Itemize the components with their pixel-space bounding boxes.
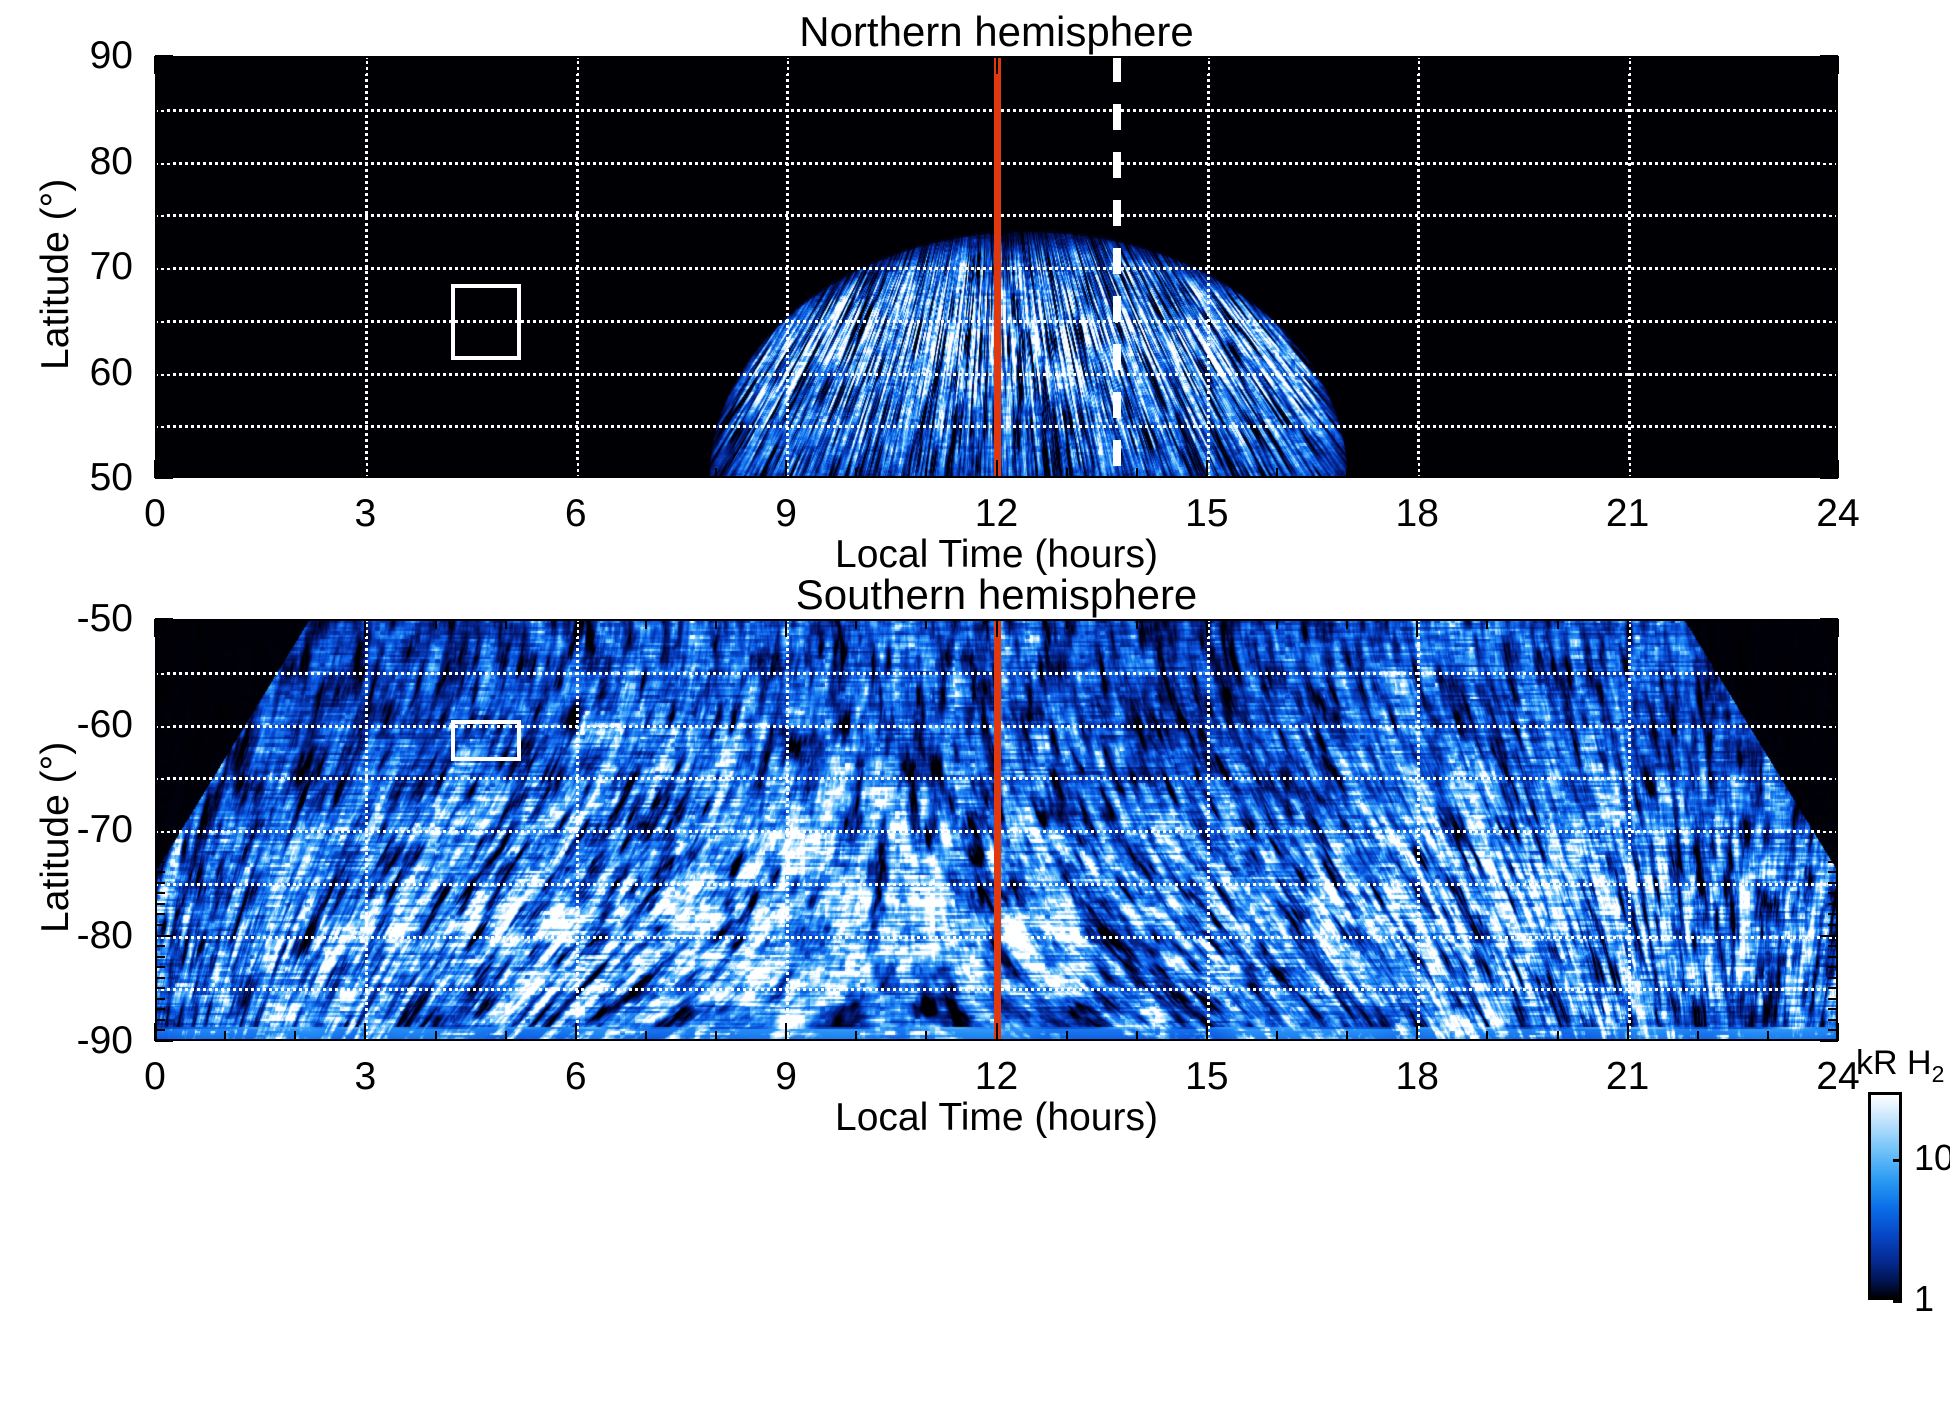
y-tick-minor-right (1828, 456, 1838, 458)
x-tick-minor-top (1276, 619, 1278, 629)
y-tick-minor-right (1828, 776, 1838, 778)
x-tick-minor (505, 1031, 507, 1041)
y-tick-minor (155, 966, 165, 968)
y-tick-major (155, 829, 173, 831)
x-tick-minor-top (1557, 619, 1559, 629)
y-tick-minor (155, 977, 165, 979)
x-tick-major-top (1627, 619, 1629, 637)
x-tick-label: 3 (275, 1057, 455, 1096)
y-tick-major-right (1820, 161, 1838, 163)
figure-root: Northern hemisphere 03691215182124 90807… (0, 0, 1950, 1423)
y-tick-minor-right (1828, 892, 1838, 894)
y-tick-minor (155, 76, 165, 78)
x-tick-major (1837, 460, 1839, 478)
x-tick-label: 6 (486, 1057, 666, 1096)
y-tick-minor (155, 882, 165, 884)
y-tick-minor-right (1828, 192, 1838, 194)
x-tick-label: 0 (65, 1057, 245, 1096)
y-tick-minor (155, 956, 165, 958)
x-tick-minor-top (224, 56, 226, 66)
x-tick-minor-top (435, 56, 437, 66)
x-tick-label: 6 (486, 494, 666, 533)
x-tick-minor (855, 468, 857, 478)
y-tick-minor-right (1828, 977, 1838, 979)
y-tick-minor-right (1828, 329, 1838, 331)
y-tick-minor-right (1828, 66, 1838, 68)
y-tick-minor-right (1828, 840, 1838, 842)
y-tick-minor (155, 129, 165, 131)
y-tick-minor-right (1828, 403, 1838, 405)
y-tick-minor-right (1828, 203, 1838, 205)
plot-area-north (155, 56, 1838, 478)
y-tick-major-right (1820, 477, 1838, 479)
x-tick-minor-top (1136, 619, 1138, 629)
y-tick-minor-right (1828, 871, 1838, 873)
y-tick-major-right (1820, 55, 1838, 57)
colorbar-gradient (1868, 1092, 1902, 1300)
x-tick-major-top (996, 56, 998, 74)
y-tick-minor (155, 403, 165, 405)
y-tick-minor (155, 861, 165, 863)
x-tick-major-top (785, 56, 787, 74)
x-tick-minor (505, 468, 507, 478)
panel-title-north: Northern hemisphere (155, 8, 1838, 56)
y-tick-minor (155, 350, 165, 352)
y-tick-minor-right (1828, 445, 1838, 447)
x-tick-major (1837, 1023, 1839, 1041)
y-tick-minor-right (1828, 1029, 1838, 1031)
y-tick-label: 80 (0, 142, 133, 181)
x-tick-minor-top (925, 619, 927, 629)
y-tick-major (155, 618, 173, 620)
y-tick-minor (155, 224, 165, 226)
x-tick-minor (715, 1031, 717, 1041)
x-tick-minor (294, 468, 296, 478)
x-axis-title-south: Local Time (hours) (155, 1096, 1838, 1140)
y-tick-minor (155, 808, 165, 810)
y-tick-major-right (1820, 372, 1838, 374)
x-tick-minor (855, 1031, 857, 1041)
y-tick-minor (155, 182, 165, 184)
x-tick-minor (435, 468, 437, 478)
x-tick-minor (224, 468, 226, 478)
y-tick-label: -90 (0, 1021, 133, 1060)
y-tick-minor-right (1828, 818, 1838, 820)
x-tick-minor (1136, 468, 1138, 478)
y-tick-minor-right (1828, 987, 1838, 989)
y-tick-label: 90 (0, 36, 133, 75)
x-tick-major-top (1416, 619, 1418, 637)
y-tick-minor-right (1828, 1019, 1838, 1021)
x-tick-minor (1486, 468, 1488, 478)
y-tick-minor (155, 766, 165, 768)
colorbar-title: kR H2 (1856, 1044, 1944, 1088)
y-tick-minor (155, 871, 165, 873)
y-tick-minor-right (1828, 393, 1838, 395)
x-tick-minor-top (1136, 56, 1138, 66)
y-tick-minor (155, 787, 165, 789)
y-tick-minor (155, 671, 165, 673)
y-tick-major (155, 1040, 173, 1042)
x-tick-minor-top (1066, 619, 1068, 629)
y-tick-minor-right (1828, 692, 1838, 694)
x-tick-minor-top (505, 619, 507, 629)
y-tick-minor-right (1828, 350, 1838, 352)
y-tick-minor-right (1828, 755, 1838, 757)
y-tick-minor (155, 913, 165, 915)
x-tick-minor-top (1697, 619, 1699, 629)
y-tick-minor (155, 660, 165, 662)
x-tick-minor-top (855, 619, 857, 629)
y-tick-minor (155, 287, 165, 289)
y-tick-minor-right (1828, 671, 1838, 673)
colorbar-tick-mark (1893, 1159, 1902, 1162)
y-tick-minor (155, 797, 165, 799)
y-tick-minor (155, 776, 165, 778)
y-tick-minor (155, 424, 165, 426)
x-tick-minor (1557, 1031, 1559, 1041)
y-tick-minor-right (1828, 808, 1838, 810)
y-tick-minor (155, 414, 165, 416)
y-tick-minor-right (1828, 139, 1838, 141)
y-tick-minor-right (1828, 150, 1838, 152)
y-tick-major (155, 477, 173, 479)
y-tick-minor (155, 745, 165, 747)
x-tick-major (996, 460, 998, 478)
y-tick-minor (155, 987, 165, 989)
y-tick-major (155, 372, 173, 374)
y-tick-minor-right (1828, 913, 1838, 915)
y-tick-minor (155, 108, 165, 110)
x-tick-minor-top (715, 619, 717, 629)
y-tick-minor (155, 150, 165, 152)
y-tick-minor (155, 734, 165, 736)
x-tick-minor-top (1697, 56, 1699, 66)
x-tick-major (154, 460, 156, 478)
y-tick-minor-right (1828, 213, 1838, 215)
x-tick-minor-top (505, 56, 507, 66)
x-tick-label: 24 (1748, 494, 1928, 533)
x-tick-major (785, 460, 787, 478)
x-tick-minor (294, 1031, 296, 1041)
y-tick-minor (155, 245, 165, 247)
x-tick-minor (1276, 1031, 1278, 1041)
y-tick-major (155, 935, 173, 937)
colorbar-tick-label: 10 (1914, 1137, 1950, 1179)
x-tick-minor (1066, 1031, 1068, 1041)
x-tick-minor-top (435, 619, 437, 629)
y-tick-minor-right (1828, 76, 1838, 78)
x-tick-major (785, 1023, 787, 1041)
y-axis-title-north: Latitude (°) (34, 179, 78, 370)
x-tick-minor-top (1066, 56, 1068, 66)
x-tick-minor (925, 468, 927, 478)
y-axis-title-south: Latitude (°) (34, 742, 78, 933)
y-tick-minor-right (1828, 108, 1838, 110)
y-tick-minor-right (1828, 466, 1838, 468)
y-tick-minor (155, 945, 165, 947)
x-tick-label: 12 (907, 494, 1087, 533)
y-tick-minor-right (1828, 966, 1838, 968)
x-tick-minor (224, 1031, 226, 1041)
x-tick-minor-top (1486, 56, 1488, 66)
plot-area-south (155, 619, 1838, 1041)
plot-panel-south (155, 619, 1838, 1041)
y-tick-minor (155, 702, 165, 704)
x-tick-minor-top (1346, 619, 1348, 629)
heatmap-canvas-south (155, 619, 1838, 1041)
y-tick-minor (155, 66, 165, 68)
y-tick-minor-right (1828, 129, 1838, 131)
x-tick-minor-top (1767, 619, 1769, 629)
x-tick-major (996, 1023, 998, 1041)
x-tick-minor-top (294, 56, 296, 66)
y-tick-minor (155, 361, 165, 363)
y-tick-major (155, 55, 173, 57)
y-tick-minor (155, 213, 165, 215)
y-tick-minor (155, 445, 165, 447)
y-tick-minor (155, 692, 165, 694)
y-tick-minor-right (1828, 319, 1838, 321)
x-tick-minor (1697, 468, 1699, 478)
y-tick-major (155, 266, 173, 268)
y-tick-minor-right (1828, 882, 1838, 884)
y-tick-label: 50 (0, 458, 133, 497)
y-tick-minor-right (1828, 255, 1838, 257)
y-tick-minor-right (1828, 650, 1838, 652)
y-tick-minor (155, 1008, 165, 1010)
y-tick-minor-right (1828, 797, 1838, 799)
x-tick-major (1416, 1023, 1418, 1041)
y-tick-minor (155, 329, 165, 331)
y-tick-minor (155, 681, 165, 683)
x-tick-major (1416, 460, 1418, 478)
y-tick-minor-right (1828, 713, 1838, 715)
colorbar: kR H2 101 (1856, 1040, 1950, 1330)
y-tick-minor-right (1828, 277, 1838, 279)
x-tick-minor (1346, 468, 1348, 478)
x-tick-label: 9 (696, 1057, 876, 1096)
x-tick-label: 18 (1327, 1057, 1507, 1096)
x-tick-major (1627, 460, 1629, 478)
x-tick-minor-top (925, 56, 927, 66)
y-tick-minor-right (1828, 340, 1838, 342)
y-tick-minor (155, 97, 165, 99)
y-tick-major (155, 724, 173, 726)
y-tick-minor-right (1828, 681, 1838, 683)
y-tick-minor-right (1828, 224, 1838, 226)
y-tick-minor (155, 639, 165, 641)
y-tick-minor-right (1828, 956, 1838, 958)
y-tick-minor (155, 255, 165, 257)
x-tick-minor-top (1346, 56, 1348, 66)
x-tick-major (1206, 1023, 1208, 1041)
y-tick-minor-right (1828, 745, 1838, 747)
x-tick-major (1206, 460, 1208, 478)
y-tick-minor-right (1828, 998, 1838, 1000)
y-tick-minor-right (1828, 629, 1838, 631)
y-tick-minor-right (1828, 87, 1838, 89)
y-tick-minor (155, 382, 165, 384)
y-tick-minor-right (1828, 182, 1838, 184)
y-tick-major-right (1820, 266, 1838, 268)
x-tick-major (1627, 1023, 1629, 1041)
x-tick-label: 15 (1117, 494, 1297, 533)
y-tick-minor-right (1828, 97, 1838, 99)
y-tick-minor-right (1828, 787, 1838, 789)
x-tick-minor-top (1486, 619, 1488, 629)
y-tick-minor-right (1828, 435, 1838, 437)
y-tick-minor-right (1828, 850, 1838, 852)
y-tick-minor-right (1828, 361, 1838, 363)
x-tick-label: 18 (1327, 494, 1507, 533)
y-tick-minor (155, 234, 165, 236)
x-tick-minor (1136, 1031, 1138, 1041)
x-tick-major-top (1627, 56, 1629, 74)
y-tick-minor-right (1828, 245, 1838, 247)
x-tick-minor-top (1767, 56, 1769, 66)
x-tick-label: 3 (275, 494, 455, 533)
x-tick-major-top (1206, 619, 1208, 637)
x-tick-major-top (785, 619, 787, 637)
colorbar-tick-mark (1893, 1300, 1902, 1303)
y-tick-major (155, 161, 173, 163)
y-tick-minor (155, 456, 165, 458)
colorbar-title-subscript: 2 (1932, 1061, 1945, 1087)
y-tick-minor-right (1828, 1008, 1838, 1010)
x-tick-major-top (364, 619, 366, 637)
y-tick-minor-right (1828, 424, 1838, 426)
y-tick-minor-right (1828, 234, 1838, 236)
y-tick-minor (155, 924, 165, 926)
y-tick-major-right (1820, 935, 1838, 937)
heatmap-canvas-north (155, 56, 1838, 478)
x-tick-major-top (575, 56, 577, 74)
y-tick-minor (155, 340, 165, 342)
y-tick-minor-right (1828, 639, 1838, 641)
y-tick-minor (155, 629, 165, 631)
y-tick-major-right (1820, 724, 1838, 726)
y-tick-minor (155, 87, 165, 89)
y-tick-minor (155, 713, 165, 715)
y-tick-minor (155, 203, 165, 205)
x-tick-minor (1697, 1031, 1699, 1041)
y-tick-minor (155, 139, 165, 141)
x-tick-minor (645, 1031, 647, 1041)
colorbar-tick-label: 1 (1914, 1278, 1934, 1320)
y-tick-minor-right (1828, 171, 1838, 173)
y-tick-minor (155, 998, 165, 1000)
x-tick-minor-top (855, 56, 857, 66)
x-tick-label: 15 (1117, 1057, 1297, 1096)
y-tick-minor (155, 435, 165, 437)
x-tick-minor (645, 468, 647, 478)
x-tick-minor-top (1557, 56, 1559, 66)
y-tick-minor (155, 118, 165, 120)
x-tick-major (575, 1023, 577, 1041)
y-tick-minor-right (1828, 382, 1838, 384)
x-tick-label: 12 (907, 1057, 1087, 1096)
y-tick-minor-right (1828, 287, 1838, 289)
y-tick-minor (155, 1029, 165, 1031)
y-tick-minor-right (1828, 414, 1838, 416)
y-tick-minor-right (1828, 308, 1838, 310)
x-tick-label: 0 (65, 494, 245, 533)
y-tick-minor (155, 393, 165, 395)
y-tick-minor (155, 298, 165, 300)
x-tick-label: 21 (1538, 1057, 1718, 1096)
panel-title-south: Southern hemisphere (155, 571, 1838, 619)
x-tick-minor-top (715, 56, 717, 66)
y-tick-minor (155, 466, 165, 468)
x-tick-major-top (1206, 56, 1208, 74)
y-tick-minor (155, 192, 165, 194)
y-tick-minor (155, 892, 165, 894)
x-tick-label: 21 (1538, 494, 1718, 533)
x-tick-minor (1066, 468, 1068, 478)
y-tick-minor-right (1828, 660, 1838, 662)
y-tick-minor (155, 755, 165, 757)
x-tick-major (364, 460, 366, 478)
x-tick-minor (715, 468, 717, 478)
x-tick-minor (1557, 468, 1559, 478)
y-tick-minor (155, 319, 165, 321)
y-tick-minor (155, 171, 165, 173)
x-tick-minor (1346, 1031, 1348, 1041)
y-tick-minor-right (1828, 118, 1838, 120)
y-tick-minor (155, 650, 165, 652)
y-tick-minor-right (1828, 298, 1838, 300)
x-tick-minor-top (645, 56, 647, 66)
plot-panel-north (155, 56, 1838, 478)
x-tick-minor (1276, 468, 1278, 478)
x-tick-minor-top (1276, 56, 1278, 66)
x-tick-minor-top (224, 619, 226, 629)
x-tick-major-top (364, 56, 366, 74)
y-tick-minor (155, 818, 165, 820)
y-tick-major-right (1820, 1040, 1838, 1042)
y-tick-minor-right (1828, 903, 1838, 905)
y-tick-label: -60 (0, 705, 133, 744)
x-tick-minor (1767, 1031, 1769, 1041)
x-tick-minor (435, 1031, 437, 1041)
y-tick-minor (155, 850, 165, 852)
y-tick-minor (155, 308, 165, 310)
y-tick-minor (155, 903, 165, 905)
x-tick-minor (925, 1031, 927, 1041)
y-tick-major-right (1820, 618, 1838, 620)
colorbar-title-text: kR H (1856, 1044, 1932, 1082)
x-tick-major-top (1416, 56, 1418, 74)
x-tick-minor-top (294, 619, 296, 629)
x-tick-major (364, 1023, 366, 1041)
x-tick-major-top (575, 619, 577, 637)
x-tick-minor-top (645, 619, 647, 629)
x-tick-minor (1486, 1031, 1488, 1041)
x-tick-major (575, 460, 577, 478)
y-tick-minor (155, 1019, 165, 1021)
y-tick-major-right (1820, 829, 1838, 831)
x-tick-major (154, 1023, 156, 1041)
y-tick-minor-right (1828, 861, 1838, 863)
x-tick-label: 9 (696, 494, 876, 533)
y-tick-minor-right (1828, 945, 1838, 947)
y-tick-minor-right (1828, 766, 1838, 768)
x-tick-major-top (996, 619, 998, 637)
y-tick-minor (155, 840, 165, 842)
y-tick-minor (155, 277, 165, 279)
y-tick-minor-right (1828, 702, 1838, 704)
